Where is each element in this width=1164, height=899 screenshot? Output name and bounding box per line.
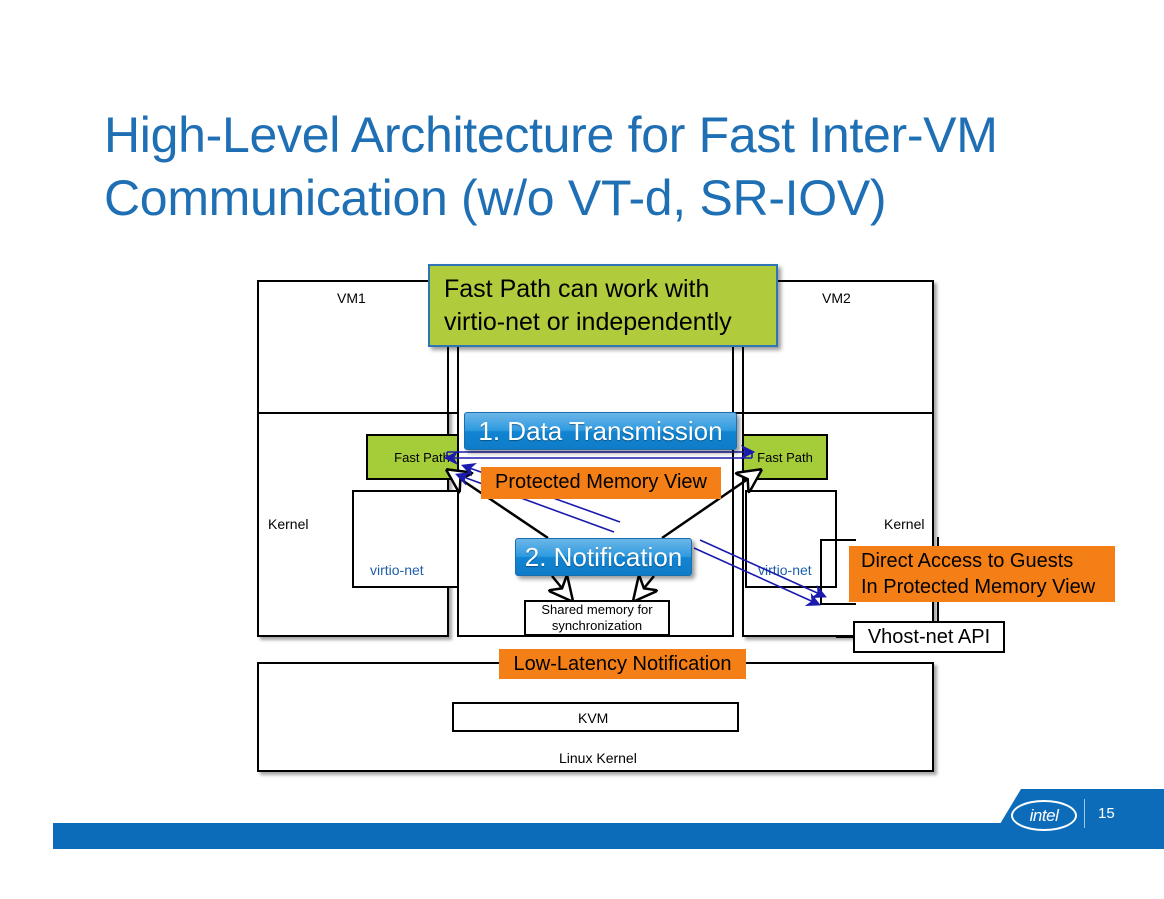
vm1-fast-path-label: Fast Path [394,450,450,465]
kvm-label: KVM [578,710,608,726]
vm2-fast-path-label: Fast Path [757,450,813,465]
callout-low-latency-notification: Low-Latency Notification [499,649,746,679]
callout-data-transmission: 1. Data Transmission [464,412,737,450]
vm2-kernel-label: Kernel [884,516,924,532]
vm1-virtio-net-label: virtio-net [370,562,424,578]
vm2-label: VM2 [822,290,851,306]
page-title: High-Level Architecture for Fast Inter-V… [104,104,1084,230]
callout-protected-memory-view: Protected Memory View [481,467,721,499]
slide-canvas: High-Level Architecture for Fast Inter-V… [0,0,1164,899]
vm2-fast-path-block: Fast Path [742,434,828,480]
vhost-net-api-box: Vhost-net API [853,621,1005,653]
callout-notification: 2. Notification [515,538,692,576]
linux-kernel-label: Linux Kernel [559,750,637,766]
callout-fast-path-note: Fast Path can work with virtio-net or in… [428,264,778,347]
vm1-label: VM1 [337,290,366,306]
intel-logo: intel [1011,800,1077,831]
callout-direct-access: Direct Access to Guests In Protected Mem… [849,546,1115,602]
vm1-kernel-label: Kernel [268,516,308,532]
vm2-virtio-net-label: virtio-net [758,562,812,578]
footer-divider [1084,799,1085,828]
shared-memory-box: Shared memory for synchronization [524,600,670,636]
page-number: 15 [1098,805,1115,822]
